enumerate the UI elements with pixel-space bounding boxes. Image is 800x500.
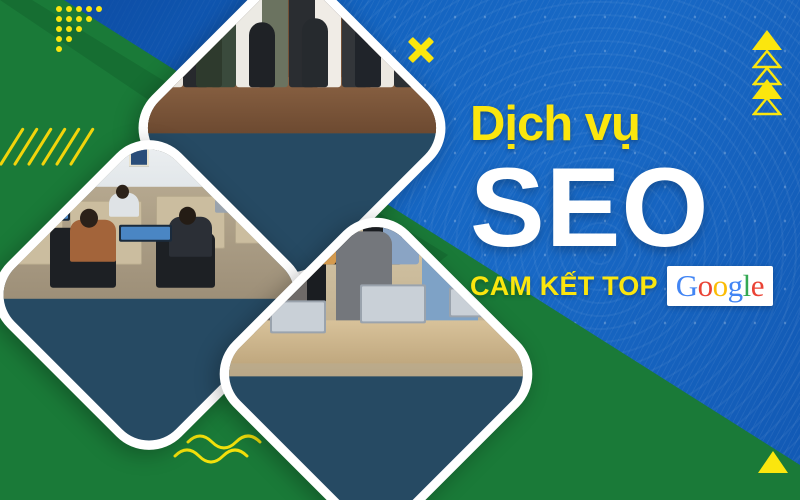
- person-head: [179, 206, 196, 224]
- triangle-filled-icon: [752, 30, 782, 50]
- work-desk: [218, 320, 535, 363]
- google-letter-g2: g: [728, 268, 743, 303]
- slash-line: [41, 127, 67, 166]
- logo-dot: [76, 26, 82, 32]
- google-logo: Google: [667, 266, 773, 306]
- logo-dot: [66, 16, 72, 22]
- google-letter-o1: o: [698, 268, 713, 303]
- commit-top-label: CAM KẾT TOP: [470, 271, 658, 302]
- slash-line: [69, 127, 95, 166]
- headline-subline: CAM KẾT TOP Google: [470, 266, 780, 306]
- google-letter-g: G: [676, 268, 698, 303]
- logo-dot: [56, 16, 62, 22]
- dot-grid-logo: [56, 6, 108, 56]
- wavy-lines-decor: [172, 428, 264, 470]
- laptop: [360, 284, 426, 324]
- headline-block: Dịch vụ SEO CAM KẾT TOP Google: [470, 100, 780, 306]
- person-head: [80, 209, 98, 228]
- logo-dot: [76, 16, 82, 22]
- google-letter-e: e: [751, 268, 764, 303]
- logo-dot: [76, 6, 82, 12]
- logo-dot: [66, 26, 72, 32]
- seo-service-banner: Dịch vụ SEO CAM KẾT TOP Google: [0, 0, 800, 500]
- google-letter-o2: o: [713, 268, 728, 303]
- slash-line: [55, 127, 81, 166]
- triangle-filled-icon-bottom: [757, 450, 789, 479]
- logo-dot: [56, 46, 62, 52]
- logo-dot: [66, 6, 72, 12]
- logo-dot: [56, 26, 62, 32]
- headline-service-label: Dịch vụ: [470, 100, 780, 149]
- laptop: [270, 300, 326, 333]
- logo-dot: [86, 16, 92, 22]
- headline-seo: SEO: [470, 155, 780, 260]
- diagonal-slashes-decor: [22, 128, 108, 180]
- logo-dot: [96, 6, 102, 12]
- x-mark-icon: [404, 33, 438, 67]
- monitor: [119, 225, 172, 242]
- logo-dot: [86, 6, 92, 12]
- logo-dot: [56, 6, 62, 12]
- logo-dot: [66, 36, 72, 42]
- slash-line: [27, 127, 53, 166]
- logo-dot: [56, 36, 62, 42]
- google-letter-l: l: [743, 268, 751, 303]
